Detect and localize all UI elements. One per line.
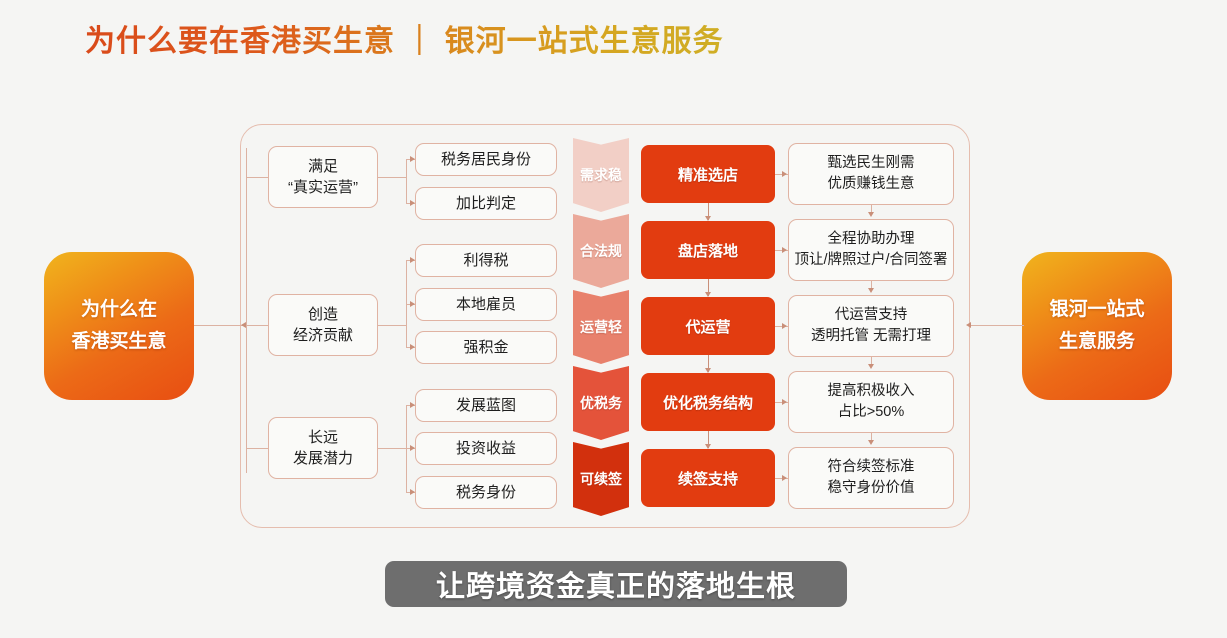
leaf-box-2-3[interactable]: 强积金 [415, 331, 557, 364]
parent-box-2-line2: 经济贡献 [293, 325, 353, 346]
end-node-line1: 银河一站式 [1049, 294, 1144, 326]
outcome-box-4-line1: 提高积极收入 [828, 381, 915, 402]
chevron-step-1[interactable]: 需求稳 [573, 138, 629, 212]
chevron-step-5[interactable]: 可续签 [573, 442, 629, 516]
parent-box-2[interactable]: 创造 经济贡献 [268, 294, 378, 356]
process-box-4[interactable]: 优化税务结构 [641, 373, 775, 431]
process-box-1[interactable]: 精准选店 [641, 145, 775, 203]
leaf-box-2-1[interactable]: 利得税 [415, 244, 557, 277]
connector-left-trunk [246, 148, 247, 473]
start-node-line1: 为什么在 [81, 294, 157, 326]
leaf-box-3-1[interactable]: 发展蓝图 [415, 389, 557, 422]
arrowhead-out-2 [782, 247, 787, 253]
connector-right-arrowhead [966, 322, 971, 328]
arrowhead-outcome-5 [868, 440, 874, 445]
chevron-step-2[interactable]: 合法规 [573, 214, 629, 288]
connector-p3-stem [378, 448, 406, 449]
leaf-box-2-2[interactable]: 本地雇员 [415, 288, 557, 321]
parent-box-2-line1: 创造 [308, 304, 338, 325]
process-box-5[interactable]: 续签支持 [641, 449, 775, 507]
end-node[interactable]: 银河一站式 生意服务 [1022, 252, 1172, 400]
outcome-box-1-line1: 甄选民生刚需 [828, 153, 915, 174]
leaf-box-3-3[interactable]: 税务身份 [415, 476, 557, 509]
end-node-line2: 生意服务 [1059, 326, 1135, 358]
connector-right-stem [970, 325, 1024, 326]
arrowhead-out-1 [782, 171, 787, 177]
arrowhead-outcome-3 [868, 288, 874, 293]
outcome-box-5[interactable]: 符合续签标准 稳守身份价值 [788, 447, 954, 509]
leaf-box-1-2[interactable]: 加比判定 [415, 187, 557, 220]
parent-box-3-line1: 长远 [308, 427, 338, 448]
arrowhead-out-4 [782, 399, 787, 405]
process-box-3[interactable]: 代运营 [641, 297, 775, 355]
arrowhead-out-5 [782, 475, 787, 481]
parent-box-1[interactable]: 满足 “真实运营” [268, 146, 378, 208]
connector-trunk-to-parent-1 [246, 177, 268, 178]
parent-box-3-line2: 发展潜力 [293, 448, 353, 469]
outcome-box-1[interactable]: 甄选民生刚需 优质赚钱生意 [788, 143, 954, 205]
chevron-step-3[interactable]: 运营轻 [573, 290, 629, 364]
parent-box-3[interactable]: 长远 发展潜力 [268, 417, 378, 479]
connector-trunk-to-parent-3 [246, 448, 268, 449]
outcome-box-2[interactable]: 全程协助办理 顶让/牌照过户/合同签署 [788, 219, 954, 281]
outcome-box-5-line1: 符合续签标准 [828, 457, 915, 478]
chevron-step-4[interactable]: 优税务 [573, 366, 629, 440]
parent-box-1-line1: 满足 [308, 156, 338, 177]
outcome-box-5-line2: 稳守身份价值 [828, 478, 915, 499]
connector-p2-stem [378, 325, 406, 326]
arrowhead-outcome-4 [868, 364, 874, 369]
arrowhead-out-3 [782, 323, 787, 329]
leaf-box-1-1[interactable]: 税务居民身份 [415, 143, 557, 176]
outcome-box-3-line1: 代运营支持 [835, 305, 908, 326]
connector-p1-spine [406, 159, 407, 203]
outcome-box-2-line1: 全程协助办理 [828, 229, 915, 250]
process-box-2[interactable]: 盘店落地 [641, 221, 775, 279]
connector-left-stem [194, 325, 246, 326]
bottom-caption: 让跨境资金真正的落地生根 [385, 561, 847, 607]
arrowhead-outcome-2 [868, 212, 874, 217]
page-title: 为什么要在香港买生意 ｜ 银河一站式生意服务 [85, 16, 724, 60]
start-node-line2: 香港买生意 [71, 326, 166, 358]
start-node[interactable]: 为什么在 香港买生意 [44, 252, 194, 400]
connector-trunk-to-parent-2 [246, 325, 268, 326]
outcome-box-4-line2: 占比>50% [838, 402, 905, 423]
outcome-box-1-line2: 优质赚钱生意 [828, 174, 915, 195]
leaf-box-3-2[interactable]: 投资收益 [415, 432, 557, 465]
parent-box-1-line2: “真实运营” [288, 177, 358, 198]
outcome-box-2-line2: 顶让/牌照过户/合同签署 [794, 250, 947, 271]
outcome-box-3[interactable]: 代运营支持 透明托管 无需打理 [788, 295, 954, 357]
connector-p1-stem [378, 177, 406, 178]
flowchart-canvas: 为什么要在香港买生意 ｜ 银河一站式生意服务 为什么在 香港买生意 银河一站式 … [0, 0, 1227, 638]
outcome-box-4[interactable]: 提高积极收入 占比>50% [788, 371, 954, 433]
outcome-box-3-line2: 透明托管 无需打理 [811, 326, 931, 347]
